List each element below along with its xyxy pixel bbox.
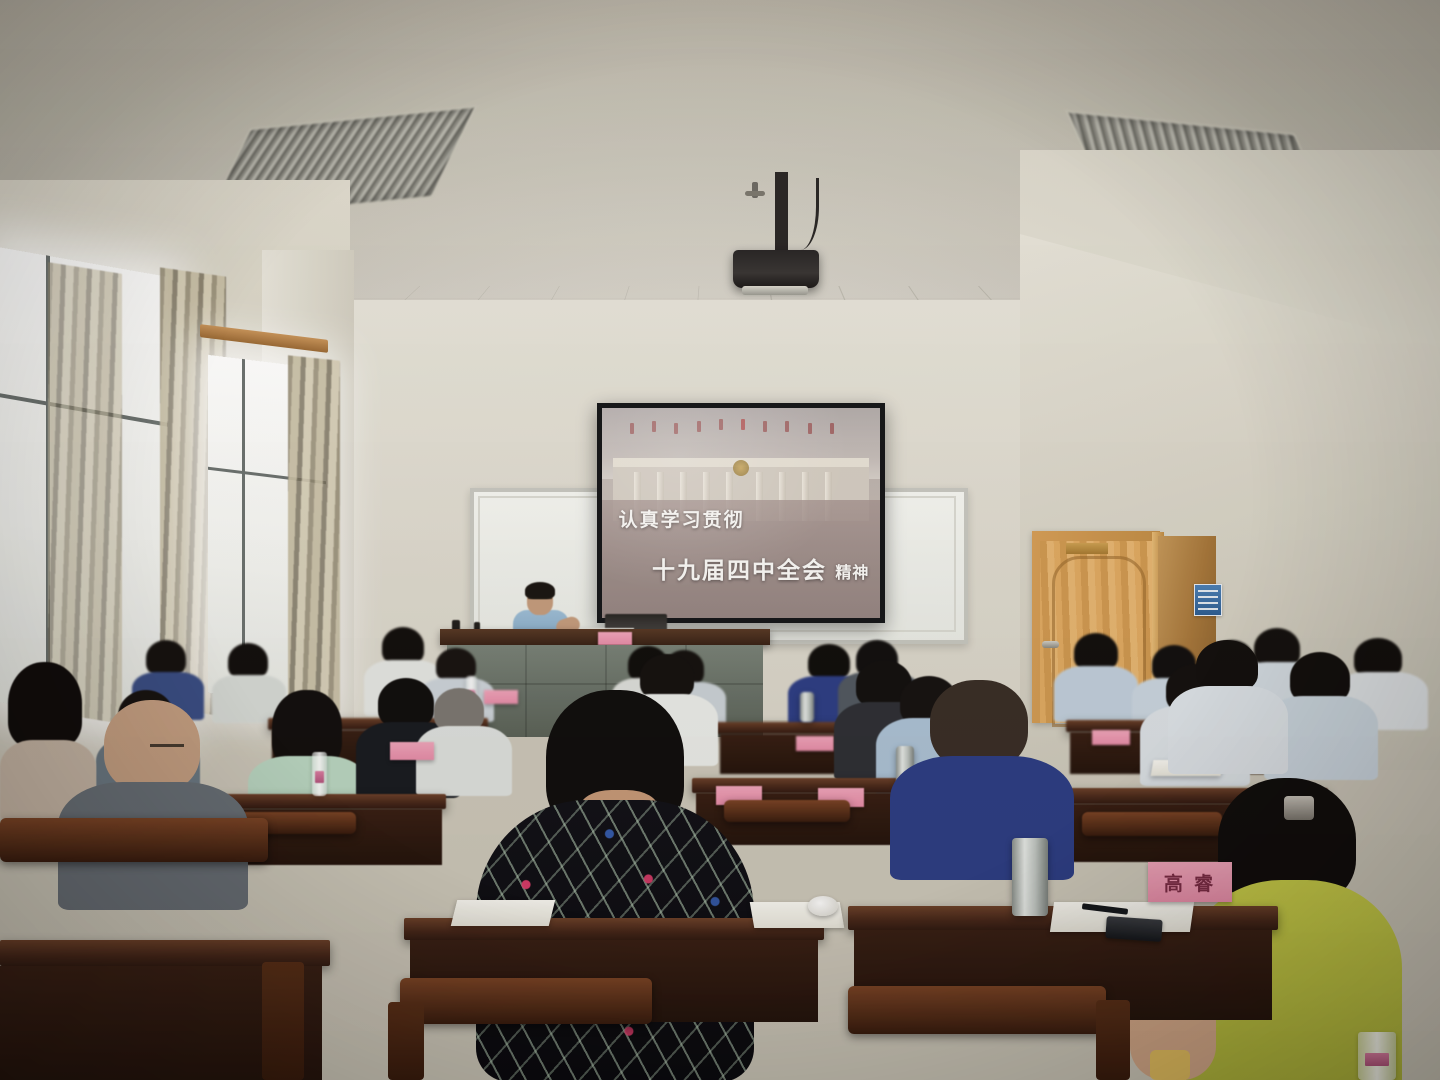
projected-slide: 认真学习贯彻 十九届四中全会 精神 — [602, 408, 880, 618]
chair-leg — [1096, 1000, 1130, 1080]
name-card — [390, 742, 434, 760]
name-card — [1092, 730, 1130, 745]
projection-screen: 认真学习贯彻 十九届四中全会 精神 — [597, 403, 885, 623]
thermos-flask — [1012, 838, 1048, 916]
chair[interactable] — [724, 800, 850, 822]
name-card — [484, 690, 518, 704]
person-torso — [1054, 666, 1138, 722]
paper-sheet — [451, 900, 555, 926]
door-handle[interactable] — [1042, 641, 1059, 648]
conference-room-photo: 认真学习贯彻 十九届四中全会 精神 — [0, 0, 1440, 1080]
person-head — [228, 643, 268, 679]
bag-item — [1150, 1050, 1190, 1080]
person-head — [378, 678, 434, 728]
glasses-icon — [150, 744, 184, 757]
wall-sign — [1194, 584, 1222, 616]
thermos-flask — [800, 692, 814, 722]
chair[interactable] — [400, 978, 652, 1024]
chair[interactable] — [848, 986, 1106, 1034]
name-card — [796, 736, 834, 751]
projector-lens — [742, 286, 808, 295]
person-head — [808, 644, 850, 680]
glasses-icon — [528, 597, 552, 604]
chair-leg — [262, 962, 304, 1080]
curtain-left-near — [288, 355, 340, 710]
person-head — [1196, 640, 1258, 692]
smartphone[interactable] — [1105, 916, 1162, 942]
name-card — [598, 632, 632, 645]
person-torso — [1168, 686, 1288, 774]
chair[interactable] — [0, 818, 268, 862]
screen-glare — [602, 408, 880, 618]
name-card: 高 睿 — [1148, 862, 1232, 902]
chair[interactable] — [1082, 812, 1222, 836]
chair-leg — [388, 1002, 424, 1080]
person-head — [146, 640, 186, 676]
water-bottle — [1358, 1032, 1396, 1080]
water-bottle — [312, 752, 327, 796]
ceiling-projector — [733, 250, 819, 288]
tea-cup — [808, 896, 838, 916]
fire-sprinkler-icon — [752, 182, 758, 198]
curtain-left-far — [48, 262, 122, 724]
hair-clip — [1284, 796, 1314, 820]
door-plaque — [1066, 543, 1108, 554]
person-torso — [416, 726, 512, 796]
person-hair — [8, 662, 82, 748]
projector-mount-rod — [775, 172, 788, 254]
